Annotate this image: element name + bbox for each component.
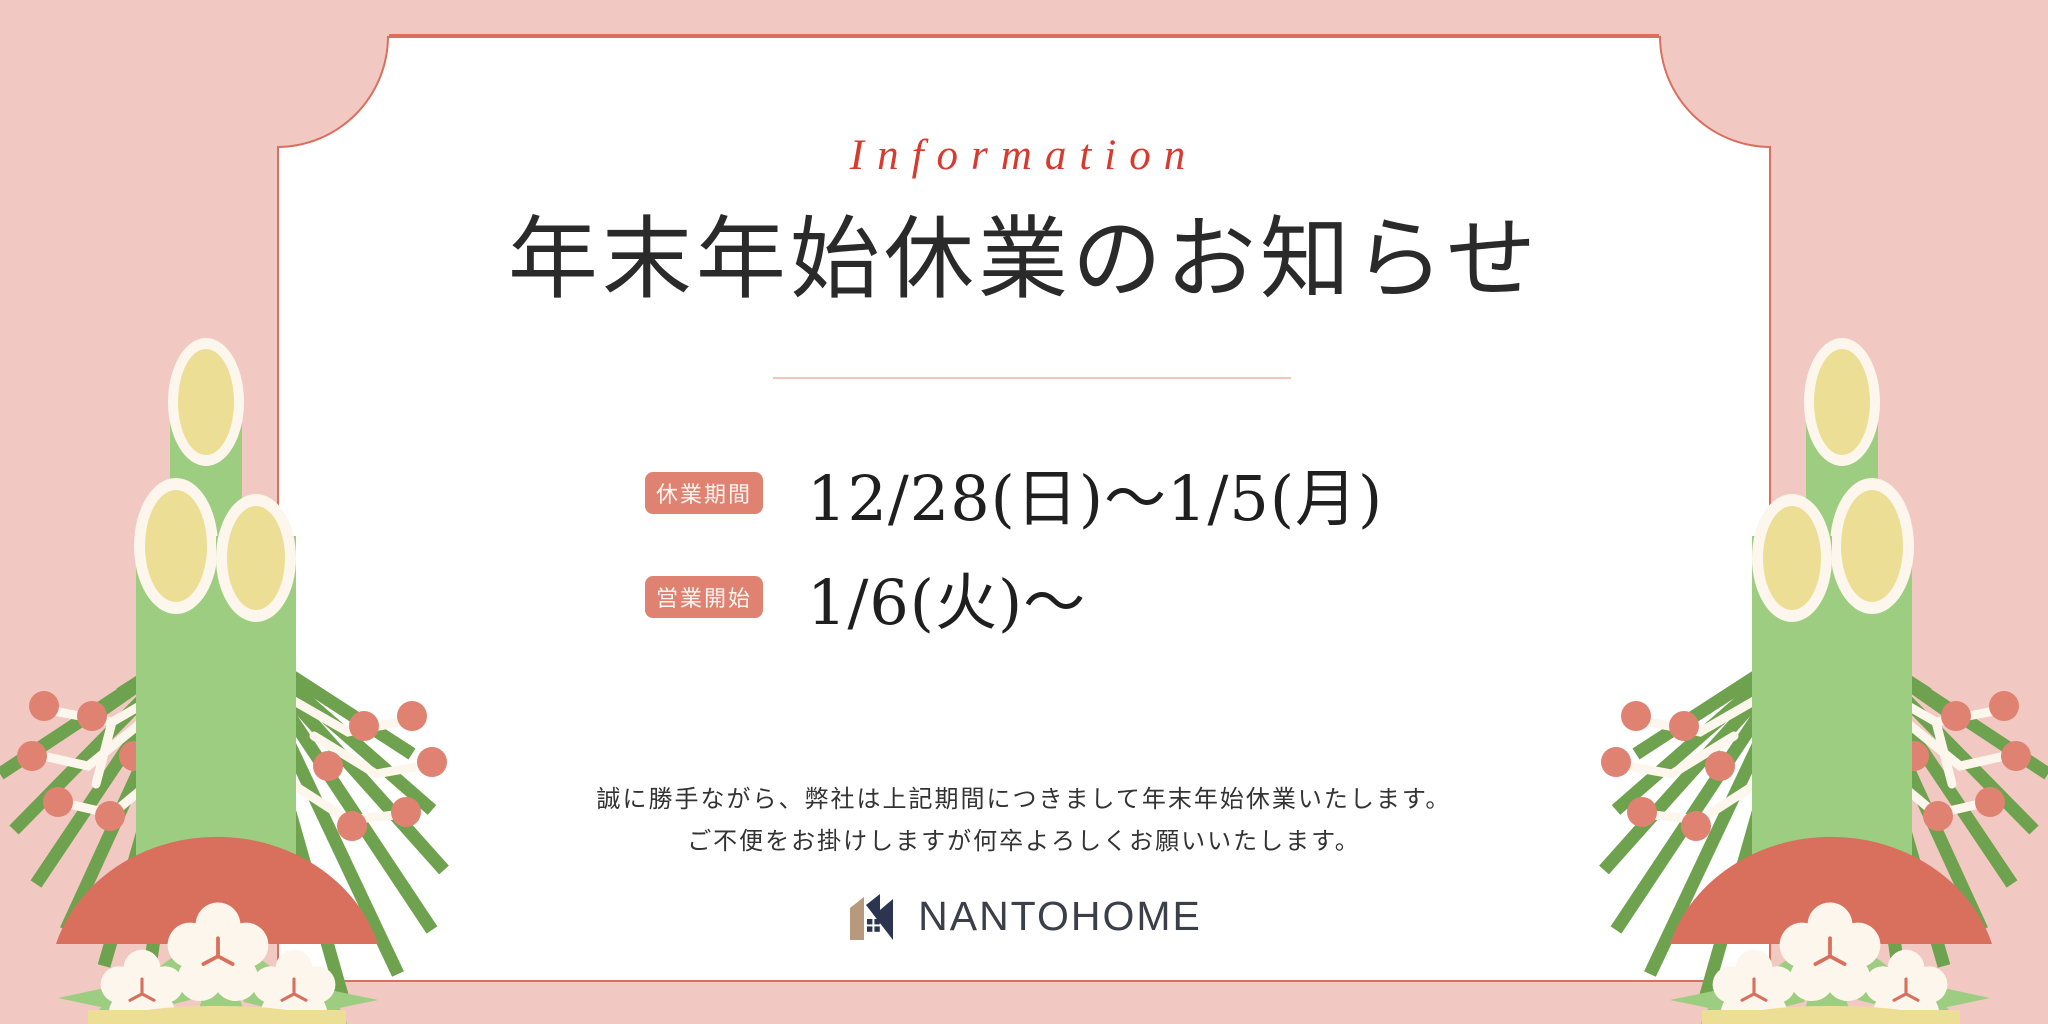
notice-line-1: 誠に勝手ながら、弊社は上記期間につきまして年末年始休業いたします。 bbox=[277, 778, 1771, 820]
reopen-date-value: 1/6(火)～ bbox=[807, 552, 1086, 642]
banner-canvas: Information 年末年始休業のお知らせ 休業期間 12/28(日)～1/… bbox=[0, 0, 2048, 1024]
logo-wordmark: NANTOHOME bbox=[918, 893, 1202, 940]
closure-period-value: 12/28(日)～1/5(月) bbox=[807, 448, 1383, 538]
bamboo-stalks-right bbox=[1752, 338, 1914, 884]
status-badge-closure-period: 休業期間 bbox=[645, 472, 763, 514]
eyebrow-information: Information bbox=[277, 131, 1771, 180]
nantohome-house-mark-icon bbox=[846, 888, 902, 944]
card-top-mask bbox=[389, 0, 1659, 36]
notice-line-2: ご不便をお掛けしますが何卒よろしくお願いいたします。 bbox=[277, 820, 1771, 862]
schedule-rows: 休業期間 12/28(日)～1/5(月) 営業開始 1/6(火)～ bbox=[277, 456, 1771, 664]
page-title: 年末年始休業のお知らせ bbox=[277, 186, 1771, 316]
title-divider bbox=[773, 377, 1291, 379]
status-badge-reopen: 営業開始 bbox=[645, 576, 763, 618]
schedule-row: 営業開始 1/6(火)～ bbox=[277, 560, 1771, 634]
card-content: Information 年末年始休業のお知らせ 休業期間 12/28(日)～1/… bbox=[277, 36, 1771, 982]
company-logo: NANTOHOME bbox=[277, 888, 1771, 944]
schedule-row: 休業期間 12/28(日)～1/5(月) bbox=[277, 456, 1771, 530]
bamboo-stalks-left bbox=[134, 338, 296, 884]
notice-paragraph: 誠に勝手ながら、弊社は上記期間につきまして年末年始休業いたします。 ご不便をお掛… bbox=[277, 778, 1771, 862]
